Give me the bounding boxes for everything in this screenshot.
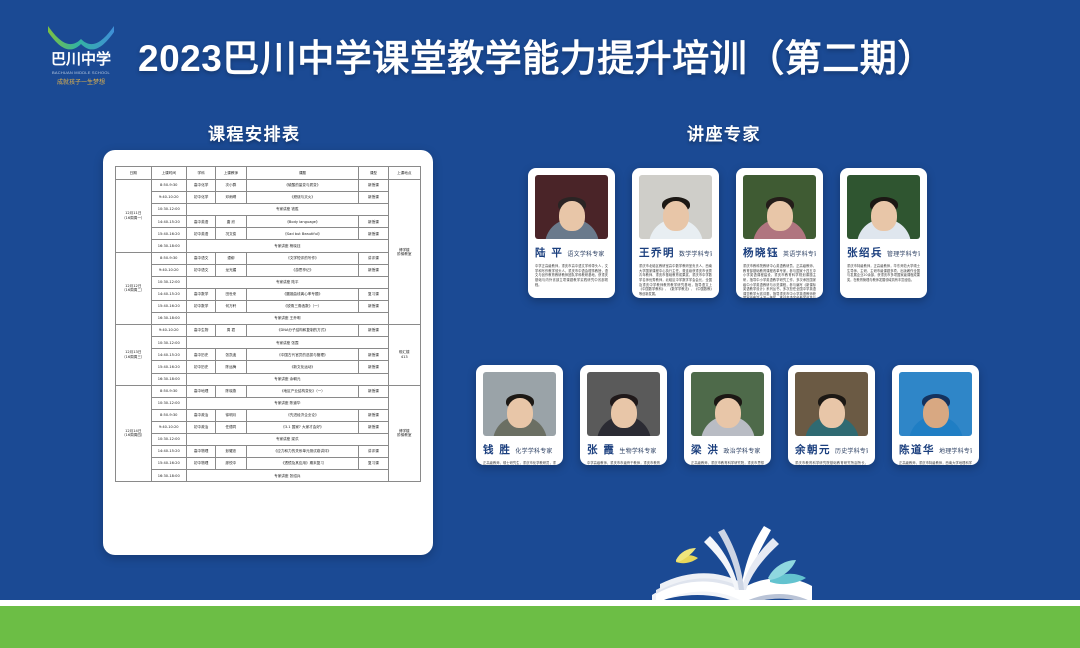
schedule-time-cell: 9:40-10:20 [151,325,187,337]
schedule-date-cell: 12月14日（16周周四） [116,385,152,482]
schedule-teacher-cell: 邓雨晴 [216,192,246,204]
expert-bio: 正高级教师，硕士研究生，重庆市化学教研员，重庆市高中教师培训专家，全国教师教育学… [483,461,556,465]
schedule-teacher-cell: 何万轩 [216,300,246,312]
expert-card[interactable]: 杨晓钰英语学科专家重庆市教科院教研中心英语教研员，正高级教师，教育部基础教育课程… [736,168,823,298]
open-book-illustration [640,520,910,610]
schedule-type-cell: 复习课 [359,458,388,470]
schedule-lecture-cell: 专家讲座 张绍兵 [187,470,389,482]
schedule-time-cell: 9:40-10:20 [151,421,187,433]
expert-card[interactable]: 梁 洪政治学科专家正高级教师，重庆市教育科学研究院，重庆市思想政治工作室主持人，… [684,365,771,465]
schedule-teacher-cell: 次小群 [216,180,246,192]
expert-role: 语文学科专家 [567,249,604,258]
schedule-topic-cell: 《游思亭记》 [246,264,359,276]
expert-name: 王乔明 [639,245,675,260]
school-logo: 巴川中学 BACHUAN MIDDLE SCHOOL 成就孩子一生梦想 [42,26,120,88]
schedule-type-cell: 复习课 [359,288,388,300]
schedule-place-cell: 博学楼阶梯教室 [388,385,420,482]
schedule-row: 9:40-10:20初中政治任德同《3.1 国家? 大家才会好》新授课 [116,421,421,433]
schedule-topic-cell: 《硫酸的量变与质变》 [246,180,359,192]
schedule-table-body: 12月11日（16周周一）8:50-9:30高中化学次小群《硫酸的量变与质变》新… [116,180,421,482]
schedule-row: 15:40-16:20初中历史陈运梅《新文化运动》新授课 [116,361,421,373]
schedule-time-cell: 16:30-18:00 [151,240,187,252]
schedule-time-cell: 9:40-10:20 [151,192,187,204]
schedule-row: 15:40-16:20初中英语况文俊《Sad but Beautiful》新授课 [116,228,421,240]
logo-chinese-name: 巴川中学 [42,50,120,70]
schedule-col-header: 上课教师 [216,167,246,180]
schedule-row: 15:40-16:20初中数学何万轩《锐角三角函数》（一）新授课 [116,300,421,312]
expert-name: 陆 平 [535,245,563,260]
expert-name-row: 张 霞生物学科专家 [587,442,660,457]
expert-photo-face [715,398,741,428]
expert-photo [483,372,556,436]
expert-name: 陈道华 [899,442,935,457]
schedule-type-cell: 新授课 [359,361,388,373]
expert-photo [847,175,920,239]
expert-photo-face [663,201,689,231]
schedule-col-header: 课题 [246,167,359,180]
expert-photo-face [923,398,949,428]
schedule-teacher-cell: 谭柳 [216,252,246,264]
schedule-topic-cell: 《新文化运动》 [246,361,359,373]
expert-bio: 正高级教师，重庆市教育科学研究院，重庆市思想政治工作室主持人，重庆市思想政治教研… [691,461,764,465]
schedule-time-cell: 16:30-18:00 [151,373,187,385]
schedule-type-cell: 新授课 [359,216,388,228]
schedule-time-cell: 8:50-9:30 [151,252,187,264]
logo-english-name: BACHUAN MIDDLE SCHOOL [42,69,120,77]
expert-name-row: 陆 平语文学科专家 [535,245,608,260]
schedule-time-cell: 14:40-15:20 [151,288,187,300]
schedule-topic-cell: 《DNA分子结构和复制的方式》 [246,325,359,337]
schedule-type-cell: 新授课 [359,180,388,192]
expert-photo [535,175,608,239]
schedule-row: 10:30-12:00专家讲座 张霞 [116,337,421,349]
schedule-date-cell: 12月12日（16周周二） [116,252,152,325]
schedule-teacher-cell: 彭耀忠 [216,446,246,458]
schedule-card: 日期上课时间学科上课教师课题课型上课地点 12月11日（16周周一）8:50-9… [103,150,433,555]
schedule-type-cell: 新授课 [359,409,388,421]
schedule-subject-cell: 高中政治 [187,409,216,421]
schedule-place-cell: 博学楼阶梯教室 [388,180,420,325]
page-title: 2023巴川中学课堂教学能力提升培训（第二期） [138,28,935,82]
schedule-subject-cell: 初中政治 [187,421,216,433]
expert-bio: 重庆市特级教师，正高级教师，华东师范大学硕士生导师，主研、主研市级课题多项，出版… [847,264,920,283]
schedule-teacher-cell: 唐 欣 [216,216,246,228]
expert-name: 余朝元 [795,442,831,457]
schedule-subject-cell: 高中语文 [187,252,216,264]
expert-name: 梁 洪 [691,442,719,457]
schedule-table-head: 日期上课时间学科上课教师课题课型上课地点 [116,167,421,180]
schedule-topic-cell: 《透镜及其应用》期末复习 [246,458,359,470]
schedule-teacher-cell: 张凯迪 [216,349,246,361]
schedule-row: 14:40-15:20高中历史张凯迪《中国古代官员的选拔与管理》新授课 [116,349,421,361]
schedule-row: 9:40-10:20初中化学邓雨晴《燃烧与灭火》新授课 [116,192,421,204]
schedule-col-header: 上课地点 [388,167,420,180]
schedule-time-cell: 10:30-12:00 [151,337,187,349]
schedule-time-cell: 16:30-18:00 [151,470,187,482]
expert-name: 张 霞 [587,442,615,457]
schedule-row: 16:30-18:00专家讲座 杨晓钰 [116,240,421,252]
schedule-time-cell: 10:30-12:00 [151,433,187,445]
expert-role: 数学学科专家 [679,249,712,258]
schedule-time-cell: 8:50-9:30 [151,409,187,421]
schedule-subject-cell: 高中生物 [187,325,216,337]
schedule-topic-cell: 《Sad but Beautiful》 [246,228,359,240]
expert-card[interactable]: 陈道华地理学科专家正高级教师，重庆市特级教师，西南大学地理科学学院硕士生导师，重… [892,365,979,465]
schedule-time-cell: 8:50-9:30 [151,385,187,397]
schedule-subject-cell: 高中历史 [187,349,216,361]
expert-card[interactable]: 王乔明数学学科专家重庆市北碚区教研室高中数学教研室负责人，西南大学国家课程中心执… [632,168,719,298]
expert-card[interactable]: 陆 平语文学科专家中学正高级教师，重庆市高中语文学科带头人，文学和写作教学领头人… [528,168,615,298]
schedule-subject-cell: 高中英语 [187,216,216,228]
expert-photo-face [871,201,897,231]
schedule-subject-cell: 高中地理 [187,385,216,397]
schedule-lecture-cell: 专家讲座 王乔明 [187,313,389,325]
schedule-date-cell: 12月11日（16周周一） [116,180,152,253]
schedule-row: 16:30-18:00专家讲座 张绍兵 [116,470,421,482]
expert-photo [899,372,972,436]
schedule-time-cell: 14:40-15:20 [151,216,187,228]
expert-name: 杨晓钰 [743,245,779,260]
expert-name-row: 王乔明数学学科专家 [639,245,712,260]
expert-role: 化学学科专家 [515,446,552,455]
schedule-type-cell: 新授课 [359,349,388,361]
schedule-row: 10:30-12:00专家讲座 陆平 [116,276,421,288]
expert-role: 生物学科专家 [619,446,656,455]
schedule-subject-cell: 初中化学 [187,192,216,204]
schedule-teacher-cell: 任德同 [216,421,246,433]
expert-photo-face [819,398,845,428]
schedule-subject-cell: 初中物理 [187,458,216,470]
schedule-row: 12月14日（16周周四）8:50-9:30高中地理陈晓燕《地区产业结构变化》（… [116,385,421,397]
schedule-type-cell: 新授课 [359,385,388,397]
schedule-row: 16:30-18:00专家讲座 王乔明 [116,313,421,325]
schedule-subject-cell: 高中化学 [187,180,216,192]
schedule-type-cell: 新授课 [359,192,388,204]
expert-name-row: 梁 洪政治学科专家 [691,442,764,457]
schedule-date-cell: 12月13日（16周周三） [116,325,152,385]
schedule-type-cell: 新授课 [359,421,388,433]
expert-role: 英语学科专家 [783,249,816,258]
schedule-lecture-cell: 专家讲座 陈道华 [187,397,389,409]
expert-photo [743,175,816,239]
schedule-topic-cell: 《文学短评的写作》 [246,252,359,264]
schedule-row: 10:30-12:00专家讲座 梁洪 [116,433,421,445]
schedule-time-cell: 15:40-16:20 [151,458,187,470]
schedule-table: 日期上课时间学科上课教师课题课型上课地点 12月11日（16周周一）8:50-9… [115,166,421,482]
schedule-subject-cell: 初中数学 [187,300,216,312]
expert-photo-face [507,398,533,428]
schedule-topic-cell: 《应力和力的关系单元测试卷讲评》 [246,446,359,458]
expert-name: 张绍兵 [847,245,883,260]
expert-card[interactable]: 张 霞生物学科专家中学高级教师，重庆市市级骨干教师，重庆市教育考试院生物学科试题… [580,365,667,465]
schedule-time-cell: 14:40-15:20 [151,349,187,361]
schedule-row: 15:40-16:20初中物理廖悦中《透镜及其应用》期末复习复习课 [116,458,421,470]
schedule-teacher-cell: 周 君 [216,325,246,337]
schedule-topic-cell: 《燃烧与灭火》 [246,192,359,204]
schedule-subject-cell: 初中历史 [187,361,216,373]
schedule-topic-cell: 《圆锥曲线离心率专题》 [246,288,359,300]
schedule-type-cell: 新授课 [359,264,388,276]
schedule-time-cell: 9:40-10:20 [151,264,187,276]
schedule-time-cell: 15:40-16:20 [151,228,187,240]
expert-name-row: 杨晓钰英语学科专家 [743,245,816,260]
schedule-topic-cell: 《中国古代官员的选拔与管理》 [246,349,359,361]
logo-swoosh-icon [48,26,114,50]
schedule-row: 16:30-18:00专家讲座 余朝元 [116,373,421,385]
schedule-teacher-cell: 龙光媚 [216,264,246,276]
schedule-row: 14:40-15:20高中物理彭耀忠《应力和力的关系单元测试卷讲评》讲评课 [116,446,421,458]
expert-name-row: 余朝元历史学科专家 [795,442,868,457]
schedule-row: 10:30-12:00专家讲座 陈道华 [116,397,421,409]
expert-bio: 正高级教师，重庆市特级教师，西南大学地理科学学院硕士生导师，重庆市教育学会地理教… [899,461,972,465]
schedule-section-title: 课程安排表 [208,120,301,145]
schedule-row: 14:40-15:20高中数学田世来《圆锥曲线离心率专题》复习课 [116,288,421,300]
expert-bio: 重庆市教科院教研中心英语教研员，正高级教师，教育部基础教育课程改革专家，参与国家… [743,264,816,298]
schedule-time-cell: 16:30-18:00 [151,313,187,325]
schedule-teacher-cell: 廖悦中 [216,458,246,470]
page-header: 巴川中学 BACHUAN MIDDLE SCHOOL 成就孩子一生梦想 2023… [0,0,1080,100]
schedule-topic-cell: 《3.1 国家? 大家才会好》 [246,421,359,433]
schedule-header-row: 日期上课时间学科上课教师课题课型上课地点 [116,167,421,180]
schedule-lecture-cell: 专家讲座 张霞 [187,337,389,349]
schedule-subject-cell: 初中英语 [187,228,216,240]
schedule-teacher-cell: 徐明月 [216,409,246,421]
schedule-teacher-cell: 况文俊 [216,228,246,240]
schedule-col-header: 学科 [187,167,216,180]
schedule-subject-cell: 初中语文 [187,264,216,276]
expert-role: 管理学科专家 [887,249,920,258]
schedule-subject-cell: 高中物理 [187,446,216,458]
schedule-time-cell: 8:50-9:30 [151,180,187,192]
footer-green-band [0,606,1080,648]
experts-section-title: 讲座专家 [687,120,761,145]
schedule-lecture-cell: 专家讲座 余朝元 [187,373,389,385]
schedule-teacher-cell: 田世来 [216,288,246,300]
schedule-lecture-cell: 专家讲座 钱胜 [187,204,389,216]
expert-bio: 中学正高级教师，重庆市高中语文学科带头人，文学和写作教学领头人，重庆市中语会理事… [535,264,608,287]
schedule-time-cell: 10:30-12:00 [151,204,187,216]
expert-card[interactable]: 张绍兵管理学科专家重庆市特级教师，正高级教师，华东师范大学硕士生导师，主研、主研… [840,168,927,298]
expert-card[interactable]: 钱 胜化学学科专家正高级教师，硕士研究生，重庆市化学教研员，重庆市高中教师培训专… [476,365,563,465]
expert-photo-face [611,398,637,428]
schedule-topic-cell: 《先进经济企业论》 [246,409,359,421]
schedule-time-cell: 14:40-15:20 [151,446,187,458]
schedule-row: 10:30-12:00专家讲座 钱胜 [116,204,421,216]
logo-motto: 成就孩子一生梦想 [42,78,120,88]
schedule-row: 14:40-15:20高中英语唐 欣《Body language》新授课 [116,216,421,228]
schedule-teacher-cell: 陈晓燕 [216,385,246,397]
schedule-col-header: 上课时间 [151,167,187,180]
schedule-row: 9:40-10:20初中语文龙光媚《游思亭记》新授课 [116,264,421,276]
expert-bio: 中学高级教师，重庆市市级骨干教师，重庆市教育考试院生物学科试题评价专家，西南大学… [587,461,660,465]
expert-role: 地理学科专家 [939,446,972,455]
expert-photo [691,372,764,436]
schedule-place-cell: 砚汇楼413 [388,325,420,385]
expert-name-row: 张绍兵管理学科专家 [847,245,920,260]
expert-photo [795,372,868,436]
expert-role: 政治学科专家 [723,446,760,455]
schedule-type-cell: 讲评课 [359,446,388,458]
expert-bio: 重庆市北碚区教研室高中数学教研室负责人，西南大学国家课程中心执行主任，曾连续获重… [639,264,712,296]
schedule-type-cell: 新授课 [359,300,388,312]
schedule-time-cell: 10:30-12:00 [151,397,187,409]
schedule-type-cell: 新授课 [359,325,388,337]
schedule-row: 8:50-9:30高中政治徐明月《先进经济企业论》新授课 [116,409,421,421]
schedule-col-header: 日期 [116,167,152,180]
schedule-time-cell: 15:40-16:20 [151,361,187,373]
expert-bio: 重庆市教育科学研究院基础教育研究所副所长，（正高级职称），历史教研员，中学正高级… [795,461,868,465]
schedule-lecture-cell: 专家讲座 陆平 [187,276,389,288]
schedule-time-cell: 10:30-12:00 [151,276,187,288]
schedule-topic-cell: 《锐角三角函数》（一） [246,300,359,312]
schedule-subject-cell: 高中数学 [187,288,216,300]
expert-name-row: 钱 胜化学学科专家 [483,442,556,457]
expert-name: 钱 胜 [483,442,511,457]
expert-role: 历史学科专家 [835,446,868,455]
schedule-row: 12月11日（16周周一）8:50-9:30高中化学次小群《硫酸的量变与质变》新… [116,180,421,192]
schedule-time-cell: 15:40-16:20 [151,300,187,312]
schedule-row: 12月13日（16周周三）9:40-10:20高中生物周 君《DNA分子结构和复… [116,325,421,337]
expert-photo-face [767,201,793,231]
schedule-topic-cell: 《地区产业结构变化》（一） [246,385,359,397]
schedule-row: 12月12日（16周周二）8:50-9:30高中语文谭柳《文学短评的写作》讲评课 [116,252,421,264]
schedule-type-cell: 新授课 [359,228,388,240]
expert-name-row: 陈道华地理学科专家 [899,442,972,457]
schedule-lecture-cell: 专家讲座 杨晓钰 [187,240,389,252]
expert-photo [587,372,660,436]
schedule-type-cell: 讲评课 [359,252,388,264]
schedule-teacher-cell: 陈运梅 [216,361,246,373]
expert-photo [639,175,712,239]
schedule-col-header: 课型 [359,167,388,180]
schedule-lecture-cell: 专家讲座 梁洪 [187,433,389,445]
schedule-topic-cell: 《Body language》 [246,216,359,228]
expert-photo-face [559,201,585,231]
expert-card[interactable]: 余朝元历史学科专家重庆市教育科学研究院基础教育研究所副所长，（正高级职称），历史… [788,365,875,465]
